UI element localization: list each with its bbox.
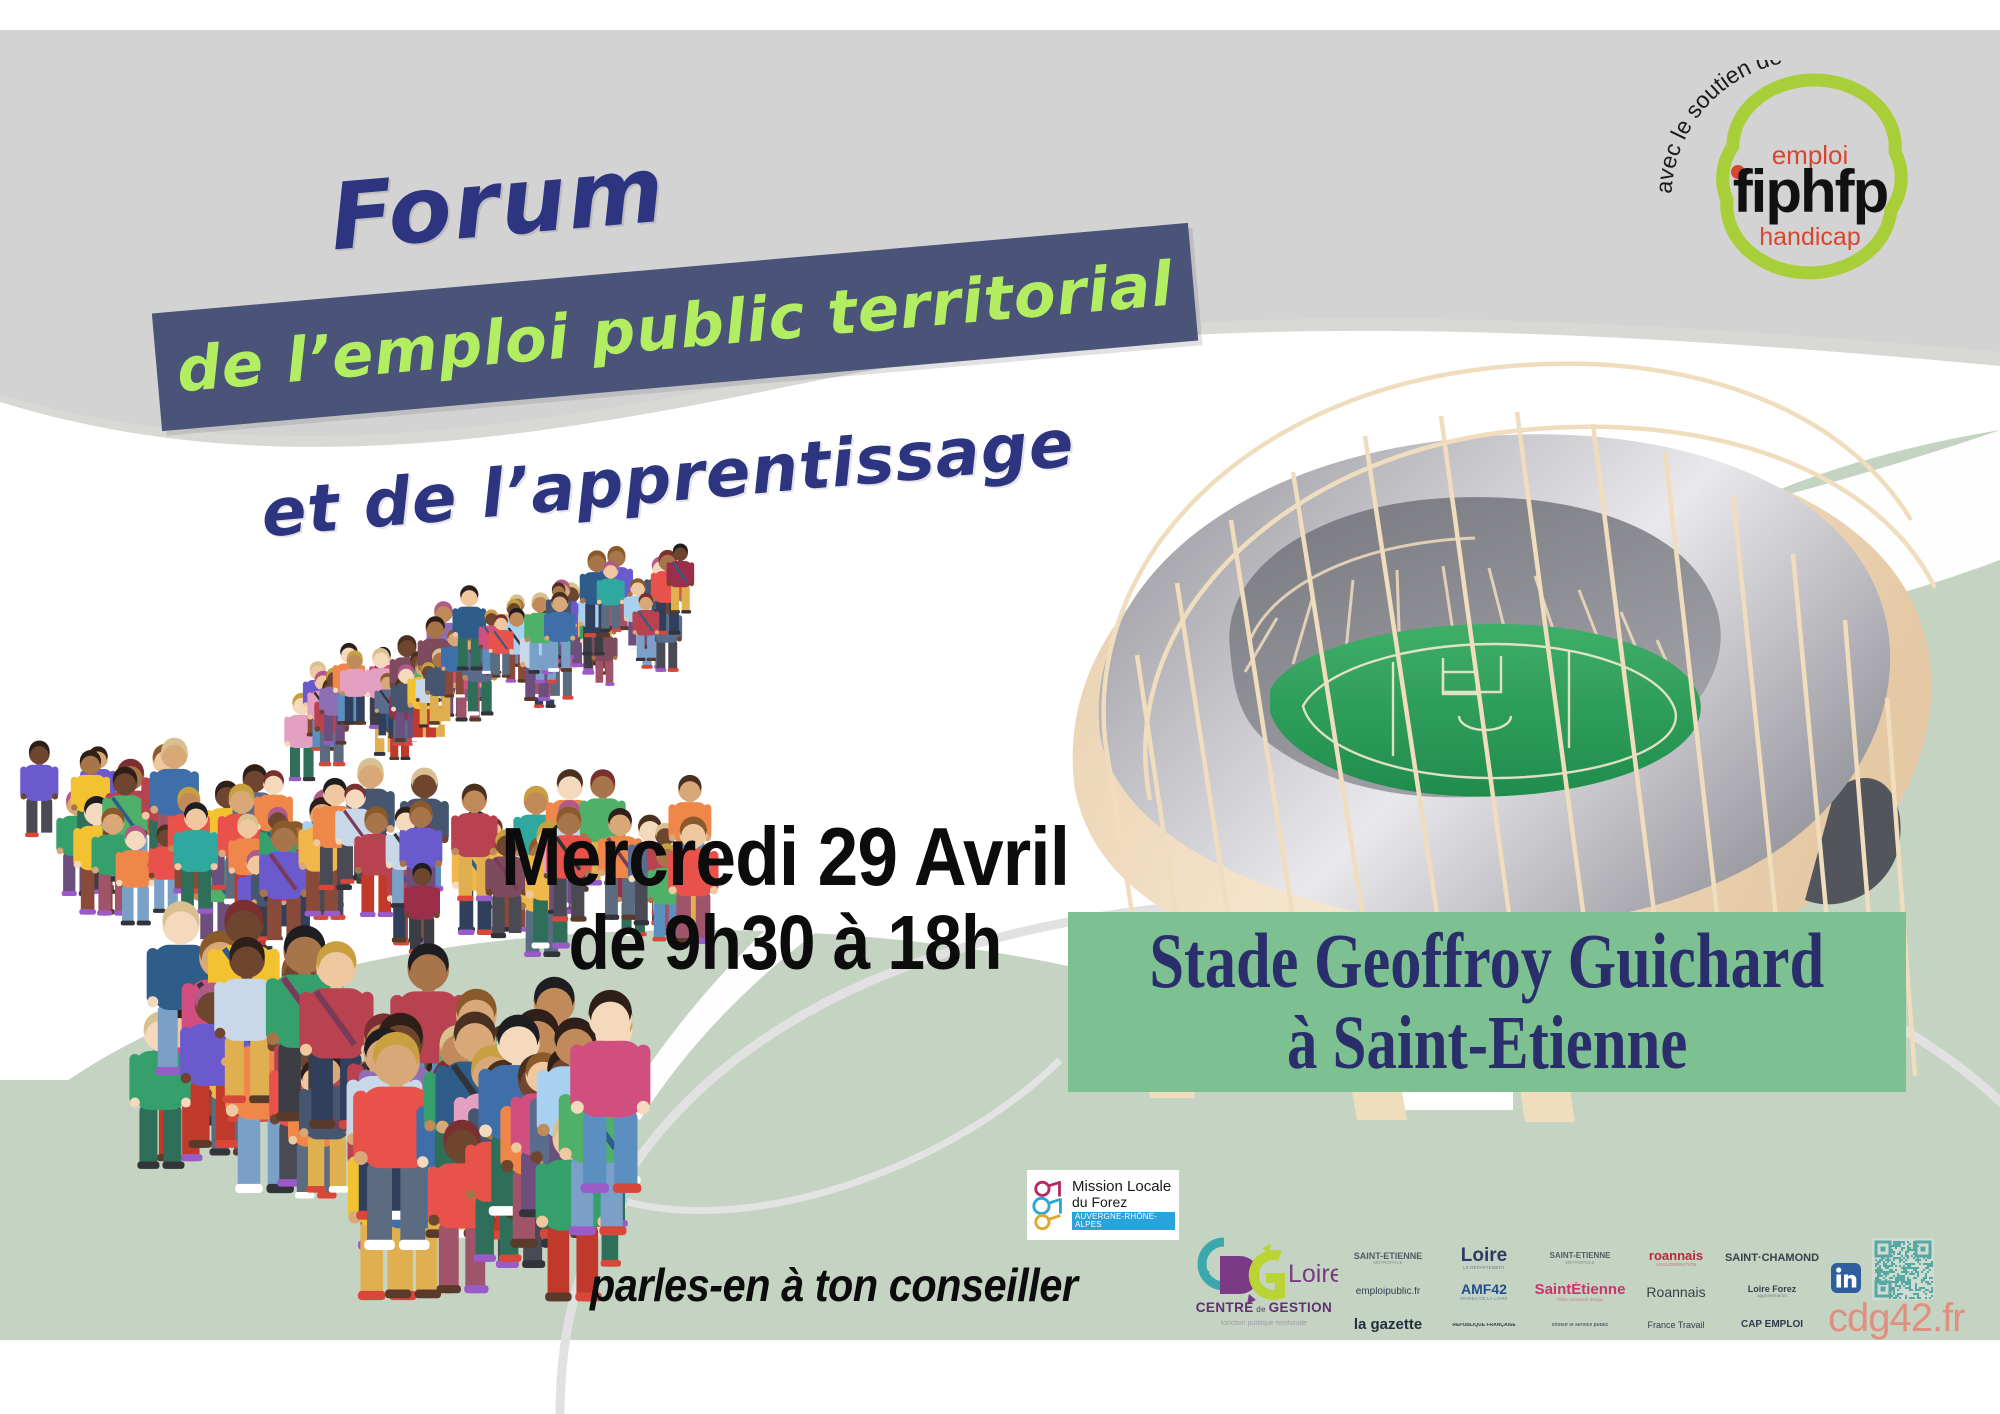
partner-logo-sub: agglomération: [1748, 1294, 1797, 1299]
qr-code[interactable]: [1872, 1238, 1934, 1300]
event-date-line2: de 9h30 à 18h: [420, 904, 1150, 983]
mission-locale-line2: du Forez: [1072, 1195, 1175, 1209]
partner-logo-name: la gazette: [1354, 1317, 1422, 1333]
partner-logo-sub: Villée créativité design: [1535, 1298, 1626, 1303]
partner-logo-name: emploipublic.fr: [1356, 1287, 1420, 1298]
partner-logo: Loire Forezagglomération: [1748, 1285, 1797, 1299]
website-url[interactable]: cdg42.fr: [1828, 1296, 1965, 1341]
mission-locale-line1: Mission Locale: [1072, 1179, 1175, 1194]
partner-logo: France Travail: [1647, 1321, 1704, 1330]
event-venue-banner: Stade Geoffroy Guichard à Saint-Etienne: [1068, 912, 1906, 1092]
venue-name: Stade Geoffroy Guichard: [1150, 921, 1825, 1001]
partner-logo-name: SaintÉtienne: [1535, 1282, 1626, 1298]
headline-subtitle: et de l’apprentissage: [258, 405, 1077, 553]
partner-logo-name: choisir le service public: [1552, 1323, 1609, 1328]
venue-city: à Saint-Etienne: [1287, 1005, 1687, 1083]
mission-locale-mark: [1031, 1177, 1069, 1233]
poster-canvas: Forum de l’emploi public territorial et …: [0, 0, 2000, 1414]
partner-logo: SAINT-ÉTIENNEMÉTROPOLE: [1354, 1252, 1423, 1266]
crowd-person: [20, 741, 58, 838]
partner-logo: RÉPUBLIQUE FRANÇAISE: [1452, 1323, 1515, 1328]
partner-logo: AMF42MAIRES DE LA LOIRE: [1460, 1282, 1508, 1301]
partner-logo: roannaisAGGLOMÉRATION: [1649, 1249, 1703, 1267]
cdg-subtitle: fonction publique territoriale: [1221, 1320, 1307, 1327]
partner-logo-sub: LE DÉPARTEMENT: [1461, 1266, 1507, 1271]
partner-logo: choisir le service public: [1552, 1323, 1609, 1328]
cdg-loire-logo: Loire CENTRE de GESTION fonction publiqu…: [1190, 1230, 1338, 1334]
page-title: Forum: [326, 136, 670, 272]
partner-logo-name: Loire: [1461, 1246, 1507, 1266]
partner-logo: la gazette: [1354, 1317, 1422, 1333]
partner-logo-sub: MÉTROPOLE: [1550, 1261, 1611, 1266]
linkedin-icon[interactable]: [1830, 1262, 1862, 1294]
cdg-dept-label: Loire: [1288, 1260, 1338, 1288]
partner-logo-name: Roannais: [1646, 1285, 1705, 1300]
headline-banner-label: de l’emploi public territorial: [152, 223, 1198, 431]
partner-logo: emploipublic.fr: [1356, 1287, 1420, 1298]
call-to-action-tagline: parles-en à ton conseiller: [590, 1258, 1078, 1312]
partner-logo: CAP EMPLOI: [1741, 1320, 1803, 1331]
fiphfp-wordmark: fiphfp: [1733, 158, 1888, 225]
partner-logo: Roannais: [1646, 1285, 1705, 1300]
partner-logo-sub: AGGLOMÉRATION: [1649, 1263, 1703, 1268]
mission-locale-logo: Mission Locale du Forez AUVERGNE-RHÔNE-A…: [1027, 1170, 1179, 1240]
partner-logo-name: France Travail: [1647, 1321, 1704, 1330]
partner-logo-sub: MÉTROPOLE: [1354, 1261, 1423, 1266]
partner-logo: LoireLE DÉPARTEMENT: [1461, 1246, 1507, 1271]
event-date-line1: Mercredi 29 Avril: [420, 815, 1150, 900]
partner-logo-sub: MAIRES DE LA LOIRE: [1460, 1297, 1508, 1302]
partner-logo-name: CAP EMPLOI: [1741, 1320, 1803, 1331]
headline-group: Forum de l’emploi public territorial et …: [0, 0, 1300, 560]
fiphfp-support-logo: avec le soutien de emploi fiphfp handica…: [1655, 60, 1965, 290]
partner-logo: SAINT-ÉTIENNEMÉTROPOLE: [1550, 1252, 1611, 1265]
partner-logo: SAINT·CHAMOND: [1725, 1253, 1819, 1265]
svg-text:CENTRE de GESTION: CENTRE de GESTION: [1196, 1300, 1332, 1315]
mission-locale-region: AUVERGNE-RHÔNE-ALPES: [1072, 1212, 1175, 1230]
partner-logo-name: SAINT·CHAMOND: [1725, 1253, 1819, 1265]
headline-banner: de l’emploi public territorial: [152, 223, 1198, 431]
partner-logo-name: AMF42: [1460, 1282, 1508, 1297]
partner-logo-name: RÉPUBLIQUE FRANÇAISE: [1452, 1323, 1515, 1328]
fiphfp-handicap-label: handicap: [1759, 223, 1860, 251]
partner-logo: SaintÉtienneVillée créativité design: [1535, 1282, 1626, 1302]
partner-logos: SAINT-ÉTIENNEMÉTROPOLELoireLE DÉPARTEMEN…: [1340, 1242, 1820, 1342]
